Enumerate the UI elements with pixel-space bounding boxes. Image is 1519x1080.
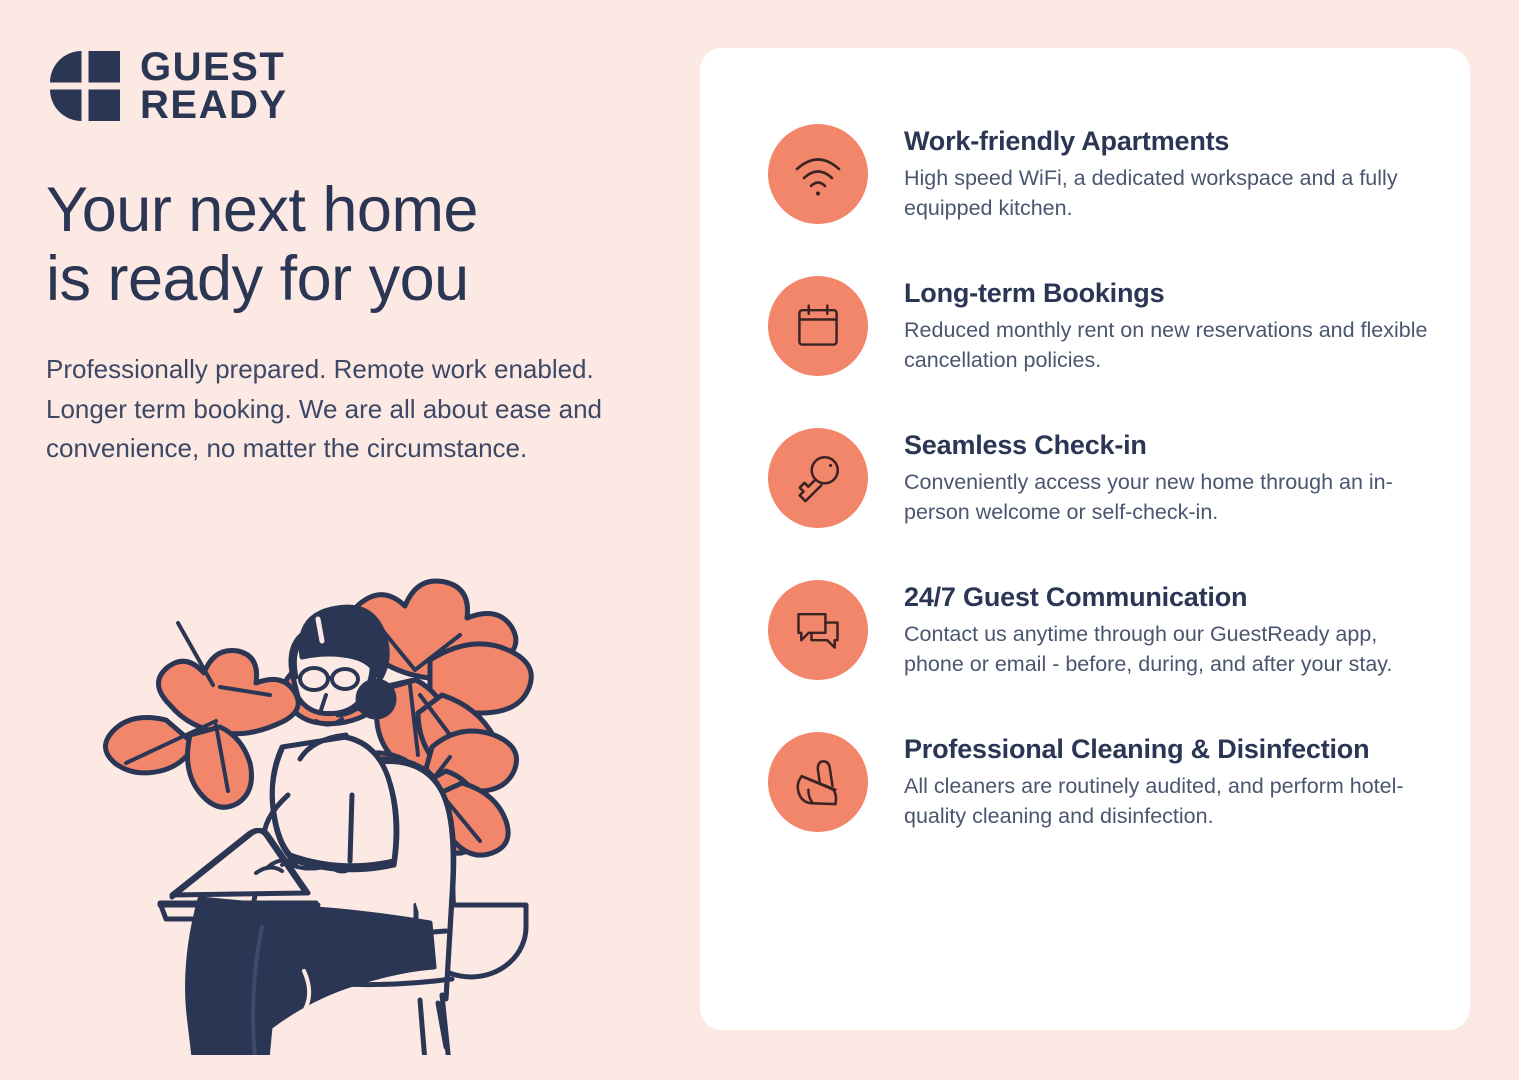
- brand-wordmark: GUEST READY: [140, 48, 288, 124]
- feature-item-professional-cleaning[interactable]: Professional Cleaning & Disinfection All…: [768, 728, 1436, 832]
- feature-text: Professional Cleaning & Disinfection All…: [904, 728, 1436, 831]
- chat-bubbles-icon: [768, 580, 868, 680]
- broom-icon: [768, 732, 868, 832]
- headline-line-2: is ready for you: [46, 245, 646, 314]
- feature-text: Long-term Bookings Reduced monthly rent …: [904, 272, 1436, 375]
- feature-text: 24/7 Guest Communication Contact us anyt…: [904, 576, 1436, 679]
- headline-line-1: Your next home: [46, 176, 646, 245]
- hero-illustration: [60, 495, 620, 1055]
- feature-title: 24/7 Guest Communication: [904, 582, 1436, 613]
- key-icon: [768, 428, 868, 528]
- brand-name-line1: GUEST: [140, 48, 288, 86]
- feature-item-seamless-check-in[interactable]: Seamless Check-in Conveniently access yo…: [768, 424, 1436, 528]
- feature-description: Contact us anytime through our GuestRead…: [904, 620, 1436, 679]
- feature-description: Conveniently access your new home throug…: [904, 468, 1436, 527]
- feature-description: High speed WiFi, a dedicated workspace a…: [904, 164, 1436, 223]
- feature-item-guest-communication[interactable]: 24/7 Guest Communication Contact us anyt…: [768, 576, 1436, 680]
- feature-title: Long-term Bookings: [904, 278, 1436, 309]
- page-title: Your next home is ready for you: [46, 176, 646, 313]
- marketing-poster: GUEST READY Your next home is ready for …: [0, 0, 1519, 1080]
- hero-panel: GUEST READY Your next home is ready for …: [0, 0, 690, 1080]
- feature-title: Professional Cleaning & Disinfection: [904, 734, 1436, 765]
- feature-title: Seamless Check-in: [904, 430, 1436, 461]
- feature-title: Work-friendly Apartments: [904, 126, 1436, 157]
- calendar-icon: [768, 276, 868, 376]
- features-list: Work-friendly Apartments High speed WiFi…: [768, 120, 1436, 832]
- feature-description: All cleaners are routinely audited, and …: [904, 772, 1436, 831]
- feature-item-work-friendly-apartments[interactable]: Work-friendly Apartments High speed WiFi…: [768, 120, 1436, 224]
- feature-text: Seamless Check-in Conveniently access yo…: [904, 424, 1436, 527]
- brand-name-line2: READY: [140, 86, 288, 124]
- wifi-icon: [768, 124, 868, 224]
- brand-logo[interactable]: GUEST READY: [48, 48, 288, 124]
- feature-item-long-term-bookings[interactable]: Long-term Bookings Reduced monthly rent …: [768, 272, 1436, 376]
- feature-description: Reduced monthly rent on new reservations…: [904, 316, 1436, 375]
- feature-text: Work-friendly Apartments High speed WiFi…: [904, 120, 1436, 223]
- features-card: Work-friendly Apartments High speed WiFi…: [700, 48, 1470, 1030]
- hero-subcopy: Professionally prepared. Remote work ena…: [46, 350, 631, 469]
- guestready-quadrant-logo-icon: [48, 49, 122, 123]
